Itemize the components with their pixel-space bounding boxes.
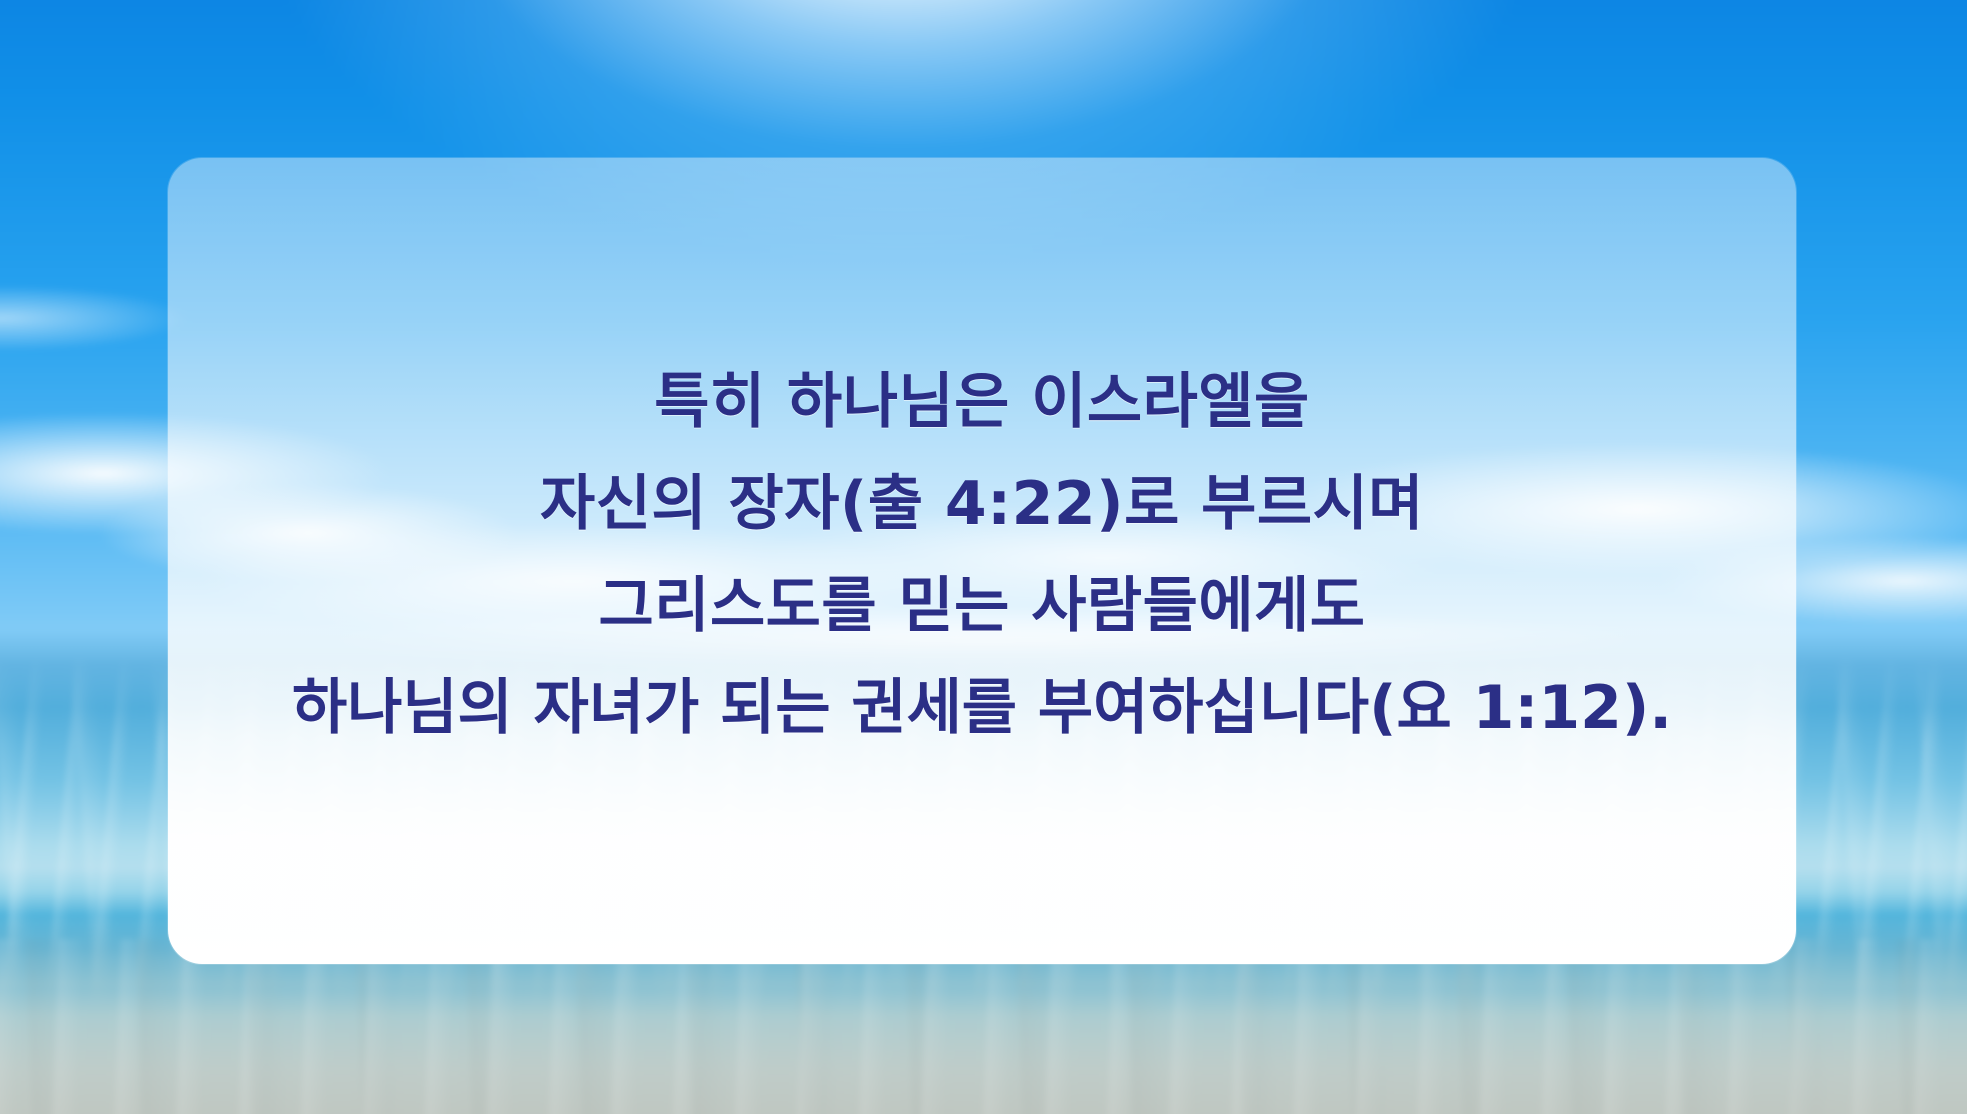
quote-line-3: 그리스도를 믿는 사람들에게도 — [198, 555, 1766, 657]
quote-line-2: 자신의 장자(출 4:22)로 부르시며 — [198, 453, 1766, 555]
quote-line-1: 특히 하나님은 이스라엘을 — [198, 351, 1766, 453]
slide-canvas: 특히 하나님은 이스라엘을 자신의 장자(출 4:22)로 부르시며 그리스도를… — [0, 0, 1967, 1114]
quote-line-4: 하나님의 자녀가 되는 권세를 부여하십니다(요 1:12). — [198, 657, 1766, 759]
sand-texture-layer — [0, 939, 1967, 1114]
quote-card: 특히 하나님은 이스라엘을 자신의 장자(출 4:22)로 부르시며 그리스도를… — [168, 158, 1796, 964]
